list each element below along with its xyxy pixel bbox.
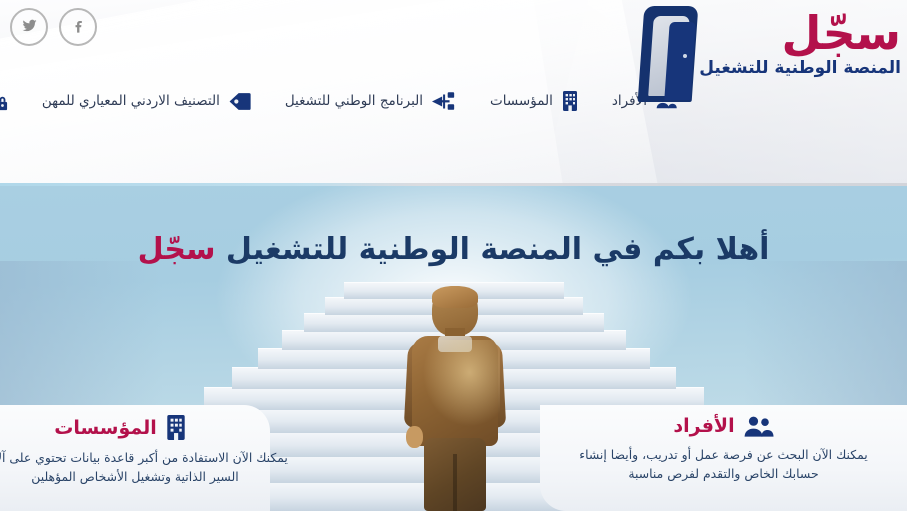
tag-icon xyxy=(229,92,251,111)
social-links xyxy=(10,8,97,46)
hero-headline-main: أهلا بكم في المنصة الوطنية للتشغيل xyxy=(226,232,770,267)
site-logo[interactable]: سجّل المنصة الوطنية للتشغيل xyxy=(635,2,901,132)
logo-text-block: سجّل المنصة الوطنية للتشغيل xyxy=(699,2,901,78)
card-title: المؤسسات xyxy=(54,417,157,439)
facebook-icon xyxy=(70,17,87,38)
twitter-button[interactable] xyxy=(10,8,48,46)
building-icon xyxy=(562,91,578,111)
hero-headline-accent: سجّل xyxy=(138,232,216,267)
card-description: يمكنك الآن البحث عن فرصة عمل أو تدريب، و… xyxy=(540,445,907,483)
card-individuals-header: الأفراد xyxy=(540,415,907,437)
nav-item-occupation-classification[interactable]: التصنيف الاردني المعياري للمهن xyxy=(25,92,268,111)
nav-label: المؤسسات xyxy=(490,93,553,109)
card-title: الأفراد xyxy=(673,415,734,437)
nav-label: التصنيف الاردني المعياري للمهن xyxy=(42,93,220,109)
businessman-figure xyxy=(398,286,510,511)
twitter-icon xyxy=(21,17,38,38)
page-root: سجّل المنصة الوطنية للتشغيل الأفراد xyxy=(0,0,907,511)
nav-item-institutions[interactable]: المؤسسات xyxy=(473,91,595,111)
nav-item-national-employment-program[interactable]: البرنامج الوطني للتشغيل xyxy=(268,92,473,111)
card-description: يمكنك الآن الاستفادة من أكبر قاعدة بيانا… xyxy=(0,448,300,486)
network-nodes-icon xyxy=(432,92,456,111)
facebook-button[interactable] xyxy=(59,8,97,46)
card-institutions[interactable]: المؤسسات يمكنك الآن الاستفادة من أكبر قا… xyxy=(0,405,270,511)
nav-item-register[interactable]: تسجيل xyxy=(0,92,25,111)
hero-headline: أهلا بكم في المنصة الوطنية للتشغيل سجّل xyxy=(0,232,907,267)
card-institutions-header: المؤسسات xyxy=(0,415,240,440)
door-arch-icon xyxy=(635,2,697,106)
people-group-icon xyxy=(744,416,774,437)
nav-label: البرنامج الوطني للتشغيل xyxy=(285,93,423,109)
user-lock-icon xyxy=(0,92,8,111)
logo-title: سجّل xyxy=(699,12,901,56)
building-icon xyxy=(166,415,186,440)
card-individuals[interactable]: الأفراد يمكنك الآن البحث عن فرصة عمل أو … xyxy=(540,405,907,511)
logo-subtitle: المنصة الوطنية للتشغيل xyxy=(699,58,901,78)
